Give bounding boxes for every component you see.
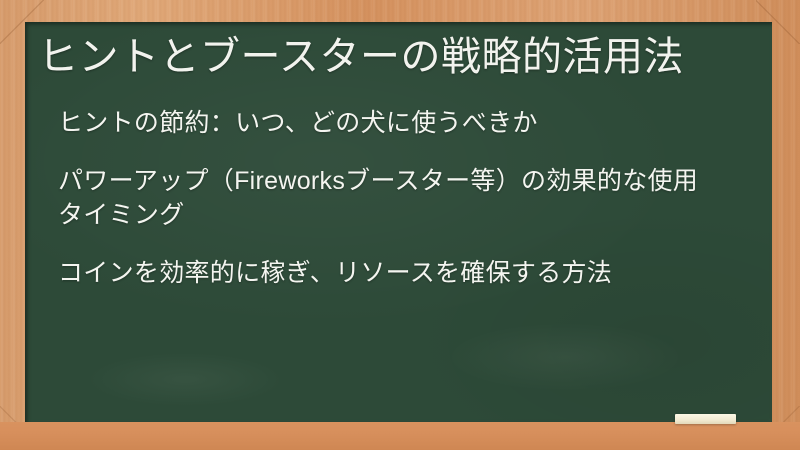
bullet-list: ヒントの節約：いつ、どの犬に使うべきか パワーアップ（Fireworksブースタ… (58, 106, 758, 290)
bullet-item: コインを効率的に稼ぎ、リソースを確保する方法 (58, 256, 758, 290)
bullet-item: パワーアップ（Fireworksブースター等）の効果的な使用タイミング (58, 164, 718, 232)
chalk-ledge (0, 422, 800, 450)
chalkboard-surface: ヒントとブースターの戦略的活用法 ヒントの節約：いつ、どの犬に使うべきか パワー… (25, 22, 772, 422)
bullet-item: ヒントの節約：いつ、どの犬に使うべきか (58, 106, 758, 140)
chalk-smudge (445, 322, 685, 392)
chalk-smudge (85, 352, 285, 407)
chalkboard-slide: ヒントとブースターの戦略的活用法 ヒントの節約：いつ、どの犬に使うべきか パワー… (0, 0, 800, 450)
chalk-stick (675, 414, 736, 424)
slide-title: ヒントとブースターの戦略的活用法 (38, 31, 758, 83)
